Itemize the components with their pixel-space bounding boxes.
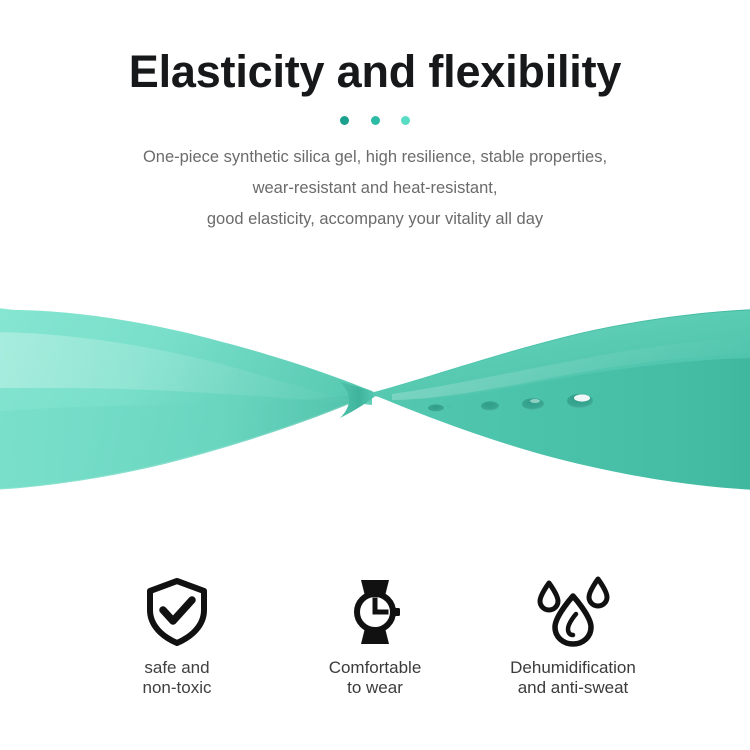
feature-label-line-2: and anti-sweat	[474, 678, 672, 698]
adjustment-hole-1	[428, 404, 444, 411]
subtitle: One-piece synthetic silica gel, high res…	[55, 142, 695, 235]
feature-label-line-1: Dehumidification	[474, 658, 672, 678]
page-title: Elasticity and flexibility	[0, 0, 750, 100]
feature-comfortable-to-wear: Comfortable to wear	[276, 575, 474, 698]
wristwatch-icon	[276, 575, 474, 649]
shield-check-icon	[78, 575, 276, 649]
dot-3	[401, 116, 410, 125]
subtitle-line-2: wear-resistant and heat-resistant,	[55, 173, 695, 204]
product-image	[0, 262, 750, 530]
feature-safe-non-toxic: safe and non-toxic	[78, 575, 276, 698]
feature-label-line-2: to wear	[276, 678, 474, 698]
dot-separator	[340, 114, 410, 126]
marketing-page: Elasticity and flexibility One-piece syn…	[0, 0, 750, 750]
feature-label-line-1: Comfortable	[276, 658, 474, 678]
water-droplets-icon	[474, 575, 672, 649]
adjustment-hole-4-highlight	[530, 399, 540, 403]
feature-label-line-2: non-toxic	[78, 678, 276, 698]
adjustment-hole-3	[481, 401, 499, 410]
dot-2	[371, 116, 380, 125]
feature-label-line-1: safe and	[78, 658, 276, 678]
subtitle-line-3: good elasticity, accompany your vitality…	[55, 204, 695, 235]
header: Elasticity and flexibility One-piece syn…	[0, 0, 750, 235]
feature-label: safe and non-toxic	[78, 658, 276, 698]
feature-list: safe and non-toxic Comfortable to wear	[0, 575, 750, 698]
dot-1	[340, 116, 349, 125]
feature-dehumidification: Dehumidification and anti-sweat	[474, 575, 672, 698]
subtitle-line-1: One-piece synthetic silica gel, high res…	[55, 142, 695, 173]
feature-label: Dehumidification and anti-sweat	[474, 658, 672, 698]
adjustment-hole-2	[446, 405, 452, 408]
adjustment-hole-5-highlight	[574, 394, 590, 401]
feature-label: Comfortable to wear	[276, 658, 474, 698]
